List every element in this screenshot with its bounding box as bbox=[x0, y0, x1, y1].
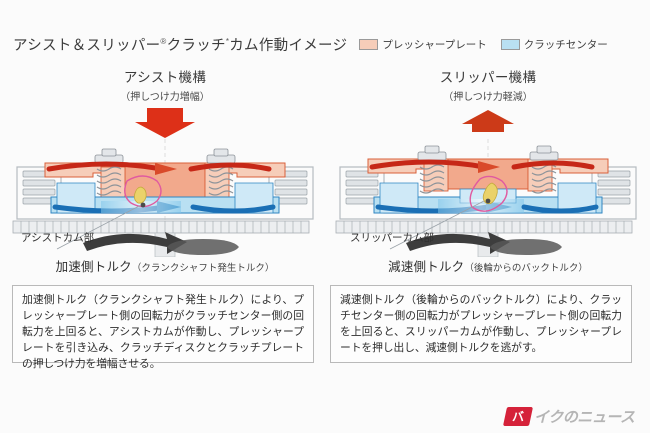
legend-item-clutch-center: クラッチセンター bbox=[501, 37, 608, 52]
watermark-logo: バ イクのニュース bbox=[505, 404, 640, 428]
legend-swatch-pressure-plate-icon bbox=[359, 39, 378, 50]
panel-assist-heading: アシスト機構 （押しつけ力増幅） bbox=[5, 66, 325, 103]
panel-slipper-heading: スリッパー機構 （押しつけ力軽減） bbox=[328, 66, 648, 103]
diagram-page: アシスト＆スリッパー®クラッチ*カム作動イメージ プレッシャープレート クラッチ… bbox=[0, 0, 650, 433]
torque-main-slipper: 減速側トルク bbox=[388, 260, 464, 274]
watermark-badge-icon: バ bbox=[503, 407, 533, 426]
torque-sub-assist: （クランクシャフト発生トルク） bbox=[132, 263, 275, 274]
panel-assist-subtitle: （押しつけ力増幅） bbox=[5, 88, 325, 103]
legend-swatch-clutch-center-icon bbox=[501, 39, 520, 50]
title-end-text: カム作動イメージ bbox=[229, 38, 347, 54]
legend: プレッシャープレート クラッチセンター bbox=[359, 37, 607, 52]
legend-label-pressure-plate: プレッシャープレート bbox=[382, 37, 486, 52]
watermark-badge-text: バ bbox=[512, 408, 524, 425]
torque-main-assist: 加速側トルク bbox=[56, 260, 132, 274]
header-bar: アシスト＆スリッパー®クラッチ*カム作動イメージ プレッシャープレート クラッチ… bbox=[0, 30, 650, 58]
torque-sub-slipper: （後輪からのバックトルク） bbox=[464, 263, 588, 274]
panel-slipper-subtitle: （押しつけ力軽減） bbox=[328, 88, 648, 103]
callout-assist-cam-label: アシストカム部 bbox=[21, 232, 94, 244]
panel-slipper-mechanism: スリッパー機構 （押しつけ力軽減） bbox=[328, 64, 648, 276]
legend-item-pressure-plate: プレッシャープレート bbox=[359, 37, 486, 52]
panel-assist-mechanism: アシスト機構 （押しつけ力増幅） bbox=[5, 64, 325, 276]
force-arrow-up-container bbox=[328, 105, 648, 141]
force-arrow-down-icon bbox=[133, 106, 197, 140]
title-main-text: アシスト＆スリッパー bbox=[13, 38, 160, 54]
callout-slipper-cam-label: スリッパーカム部 bbox=[350, 232, 434, 244]
legend-label-clutch-center: クラッチセンター bbox=[524, 37, 608, 52]
force-arrow-down-container bbox=[5, 105, 325, 141]
description-text-assist: 加速側トルク（クランクシャフト発生トルク）により、プレッシャープレート側の回転力… bbox=[22, 293, 304, 373]
title-mid-text: クラッチ bbox=[167, 38, 226, 54]
watermark-text: イクのニュース bbox=[534, 406, 634, 427]
panel-assist-title: アシスト機構 bbox=[5, 66, 325, 86]
panel-slipper-title: スリッパー機構 bbox=[328, 66, 648, 86]
description-box-assist: 加速側トルク（クランクシャフト発生トルク）により、プレッシャープレート側の回転力… bbox=[12, 285, 314, 363]
description-box-slipper: 減速側トルク（後輪からのバックトルク）により、クラッチセンター側の回転力がプレッ… bbox=[330, 285, 632, 363]
description-text-slipper: 減速側トルク（後輪からのバックトルク）により、クラッチセンター側の回転力がプレッ… bbox=[340, 293, 622, 357]
callout-assist-cam: アシストカム部 bbox=[21, 230, 94, 245]
page-title: アシスト＆スリッパー®クラッチ*カム作動イメージ bbox=[13, 34, 347, 55]
torque-caption-assist: 加速側トルク（クランクシャフト発生トルク） bbox=[5, 256, 325, 276]
torque-caption-slipper: 減速側トルク（後輪からのバックトルク） bbox=[328, 256, 648, 276]
force-arrow-up-icon bbox=[456, 106, 520, 140]
callout-slipper-cam: スリッパーカム部 bbox=[350, 230, 434, 245]
